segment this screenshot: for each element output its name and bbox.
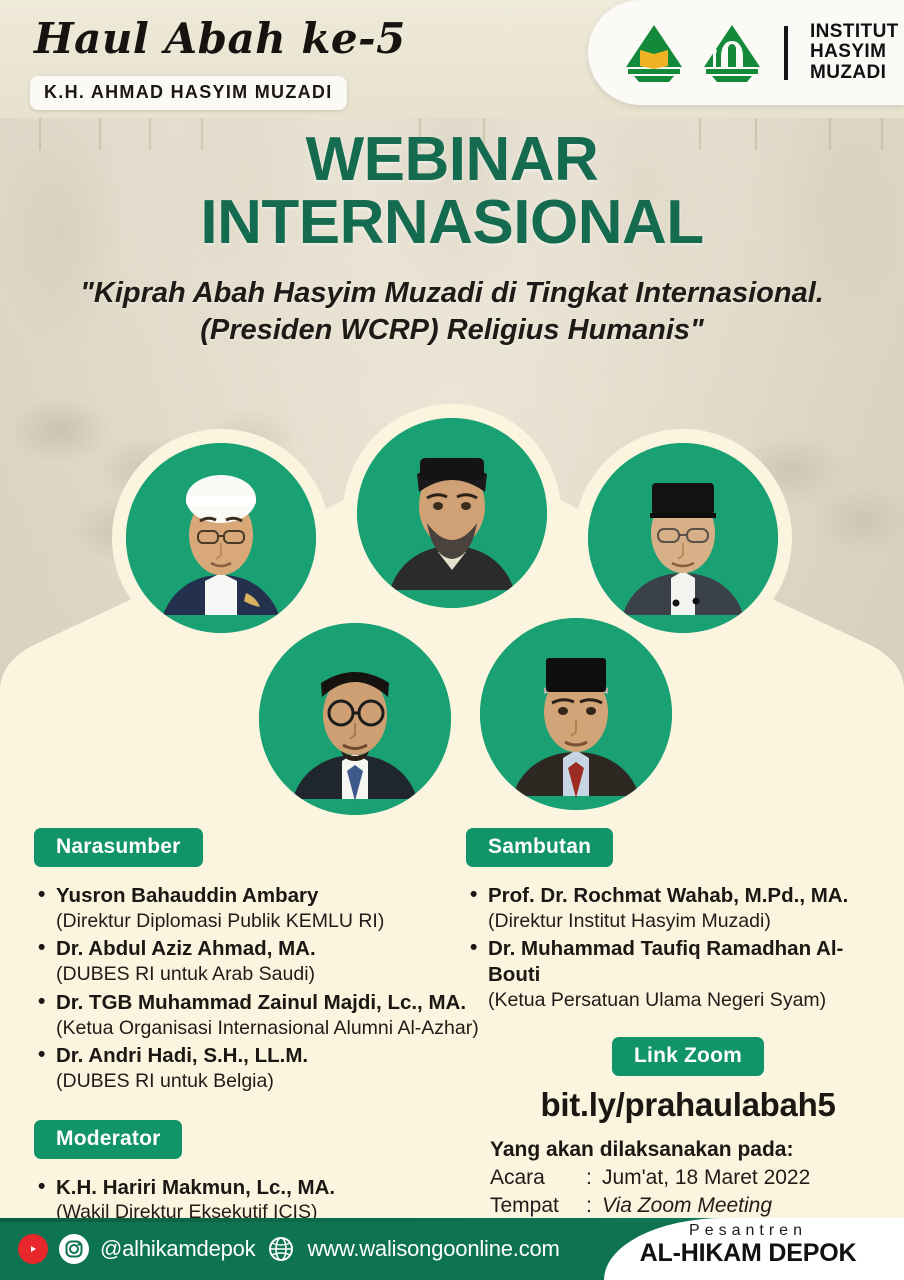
youtube-icon[interactable] [18, 1234, 48, 1264]
page-title: WEBINAR INTERNASIONAL [0, 128, 904, 254]
speaker-photo-3 [588, 443, 778, 633]
person-name: Dr. TGB Muhammad Zainul Majdi, Lc., MA. [34, 990, 494, 1016]
subtitle-line-2: (Presiden WCRP) Religius Humanis" [32, 312, 872, 349]
logo-divider [784, 26, 788, 80]
person-role: (Ketua Organisasi Internasional Alumni A… [34, 1016, 494, 1041]
mosque-arch-logo-icon [698, 23, 766, 83]
logo-text: INSTITUT HASYIM MUZADI [810, 22, 899, 83]
instagram-icon[interactable] [59, 1234, 89, 1264]
institute-logo: INSTITUT HASYIM MUZADI [588, 0, 904, 105]
speaker-photo-1 [126, 443, 316, 633]
list-item: Dr. Andri Hadi, S.H., LL.M. (DUBES RI un… [34, 1043, 494, 1093]
list-item: Dr. Muhammad Taufiq Ramadhan Al-Bouti (K… [466, 936, 890, 1012]
footer-bar: @alhikamdepok www.walisongoonline.com Pe… [0, 1218, 904, 1280]
speaker-photo-1-image [126, 443, 316, 633]
schedule-row: Tempat : Via Zoom Meeting [490, 1192, 890, 1220]
haul-title: Haul Abah ke-5 [34, 14, 406, 63]
haul-name-badge-label: K.H. AHMAD HASYIM MUZADI [44, 82, 333, 102]
headline-line-2: INTERNASIONAL [0, 191, 904, 254]
list-item: Dr. Abdul Aziz Ahmad, MA. (DUBES RI untu… [34, 936, 494, 986]
person-name: Yusron Bahauddin Ambary [34, 883, 494, 909]
footer-brand: Pesantren AL-HIKAM DEPOK [608, 1222, 888, 1268]
schedule-row: Acara : Jum'at, 18 Maret 2022 [490, 1164, 890, 1192]
link-zoom-badge: Link Zoom [612, 1037, 764, 1076]
speaker-photo-5 [480, 618, 672, 810]
youtube-play-glyph [25, 1243, 41, 1255]
left-column: Narasumber Yusron Bahauddin Ambary (Dire… [34, 828, 494, 1228]
speaker-photo-4-image [259, 623, 451, 815]
list-item: Yusron Bahauddin Ambary (Direktur Diplom… [34, 883, 494, 933]
schedule-label: Acara [490, 1164, 586, 1192]
speaker-photo-3-image [588, 443, 778, 633]
brand-big-label: AL-HIKAM DEPOK [608, 1239, 888, 1268]
speaker-photo-2 [357, 418, 547, 608]
narasumber-list: Yusron Bahauddin Ambary (Direktur Diplom… [34, 883, 494, 1094]
speaker-photo-4 [259, 623, 451, 815]
sambutan-list: Prof. Dr. Rochmat Wahab, M.Pd., MA. (Dir… [466, 883, 890, 1013]
person-name: Prof. Dr. Rochmat Wahab, M.Pd., MA. [466, 883, 890, 909]
right-column: Sambutan Prof. Dr. Rochmat Wahab, M.Pd.,… [466, 828, 890, 1249]
haul-name-badge: K.H. AHMAD HASYIM MUZADI [30, 76, 347, 110]
poster-root: Haul Abah ke-5 K.H. AHMAD HASYIM MUZADI [0, 0, 904, 1280]
instagram-glyph [64, 1239, 84, 1259]
mountain-book-logo-icon [620, 23, 688, 83]
person-role: (Direktur Diplomasi Publik KEMLU RI) [34, 909, 494, 934]
list-item: Dr. TGB Muhammad Zainul Majdi, Lc., MA. … [34, 990, 494, 1040]
logo-line-1: INSTITUT [810, 22, 899, 42]
logo-line-3: MUZADI [810, 63, 899, 83]
schedule-separator: : [586, 1164, 602, 1192]
logo-marks [620, 23, 766, 83]
person-role: (Ketua Persatuan Ulama Negeri Syam) [466, 988, 890, 1013]
footer-social: @alhikamdepok www.walisongoonline.com [18, 1218, 560, 1280]
person-role: (DUBES RI untuk Arab Saudi) [34, 962, 494, 987]
schedule-separator: : [586, 1192, 602, 1220]
schedule-value: Via Zoom Meeting [602, 1192, 890, 1220]
brand-small-label: Pesantren [608, 1222, 888, 1240]
narasumber-badge: Narasumber [34, 828, 203, 867]
moderator-badge-wrap: Moderator [34, 1120, 494, 1159]
zoom-link-url[interactable]: bit.ly/prahaulabah5 [466, 1086, 890, 1124]
globe-icon[interactable] [266, 1234, 296, 1264]
person-role: (DUBES RI untuk Belgia) [34, 1069, 494, 1094]
link-zoom-wrap: Link Zoom [466, 1037, 890, 1076]
list-item: Prof. Dr. Rochmat Wahab, M.Pd., MA. (Dir… [466, 883, 890, 933]
sambutan-badge: Sambutan [466, 828, 613, 867]
logo-line-2: HASYIM [810, 42, 899, 62]
person-name: Dr. Abdul Aziz Ahmad, MA. [34, 936, 494, 962]
person-name: K.H. Hariri Makmun, Lc., MA. [34, 1175, 494, 1201]
subtitle: "Kiprah Abah Hasyim Muzadi di Tingkat In… [32, 275, 872, 349]
person-name: Dr. Andri Hadi, S.H., LL.M. [34, 1043, 494, 1069]
speaker-photo-2-image [357, 418, 547, 608]
schedule-value: Jum'at, 18 Maret 2022 [602, 1164, 890, 1192]
schedule-label: Tempat [490, 1192, 586, 1220]
moderator-badge: Moderator [34, 1120, 182, 1159]
person-role: (Direktur Institut Hasyim Muzadi) [466, 909, 890, 934]
subtitle-line-1: "Kiprah Abah Hasyim Muzadi di Tingkat In… [32, 275, 872, 312]
headline-line-1: WEBINAR [306, 125, 599, 194]
person-name: Dr. Muhammad Taufiq Ramadhan Al-Bouti [466, 936, 890, 988]
social-handle[interactable]: @alhikamdepok [100, 1236, 255, 1262]
website-url[interactable]: www.walisongoonline.com [307, 1236, 559, 1262]
globe-glyph [267, 1235, 295, 1263]
speaker-photo-5-image [480, 618, 672, 810]
schedule-heading: Yang akan dilaksanakan pada: [490, 1138, 890, 1162]
